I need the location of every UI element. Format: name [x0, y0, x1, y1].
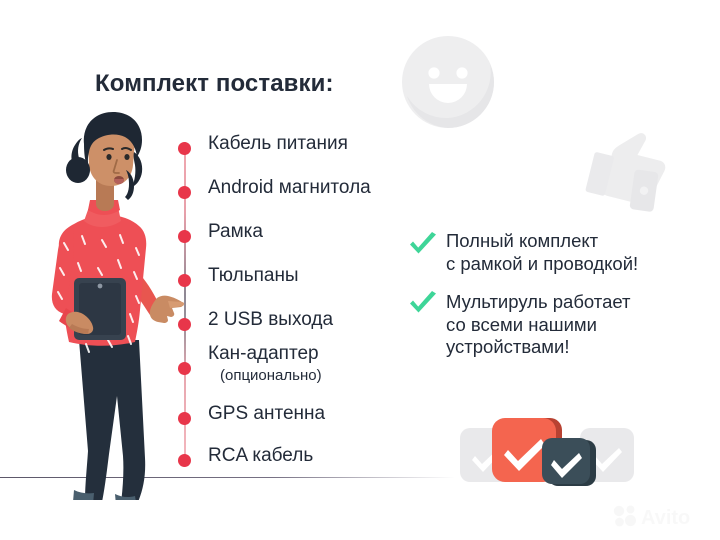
green-check-icon — [408, 291, 438, 317]
woman-pointing-illustration — [16, 108, 194, 500]
checkbox-dark — [542, 438, 590, 484]
bullet-dot — [178, 412, 191, 425]
bullet-dot — [178, 230, 191, 243]
svg-text:Avito: Avito — [641, 507, 690, 529]
bullet-dot — [178, 186, 191, 199]
bullet-dot — [178, 142, 191, 155]
list-item-label: Рамка — [208, 222, 263, 243]
slide-canvas: Комплект поставки: — [0, 0, 720, 540]
list-item-label: GPS антенна — [208, 404, 325, 425]
page-title: Комплект поставки: — [95, 70, 334, 98]
thumbs-up-icon — [576, 112, 680, 216]
benefit-text: Мультируль работает со всеми нашими устр… — [446, 291, 708, 359]
list-item-label: 2 USB выхода — [208, 310, 333, 331]
list-item-label: Кабель питания — [208, 134, 348, 155]
checkbox-cluster-icon — [458, 414, 638, 488]
benefit-item: Полный комплект с рамкой и проводкой! — [408, 230, 708, 275]
benefits-list: Полный комплект с рамкой и проводкой! Му… — [408, 230, 708, 375]
bullet-dot — [178, 454, 191, 467]
avito-watermark: Avito — [612, 503, 708, 529]
list-item-label: Кан-адаптер — [208, 344, 319, 365]
green-check-icon — [408, 232, 438, 258]
benefit-item: Мультируль работает со всеми нашими устр… — [408, 291, 708, 359]
list-item-label: RCA кабель — [208, 446, 313, 467]
list-item-sublabel: (опционально) — [220, 368, 322, 385]
bullet-dot — [178, 274, 191, 287]
list-item-label: Тюльпаны — [208, 266, 299, 287]
bullet-dot — [178, 362, 191, 375]
smiley-face-icon — [402, 36, 494, 128]
benefit-text: Полный комплект с рамкой и проводкой! — [446, 230, 708, 275]
bullet-dot — [178, 318, 191, 331]
list-item-label: Android магнитола — [208, 178, 371, 199]
